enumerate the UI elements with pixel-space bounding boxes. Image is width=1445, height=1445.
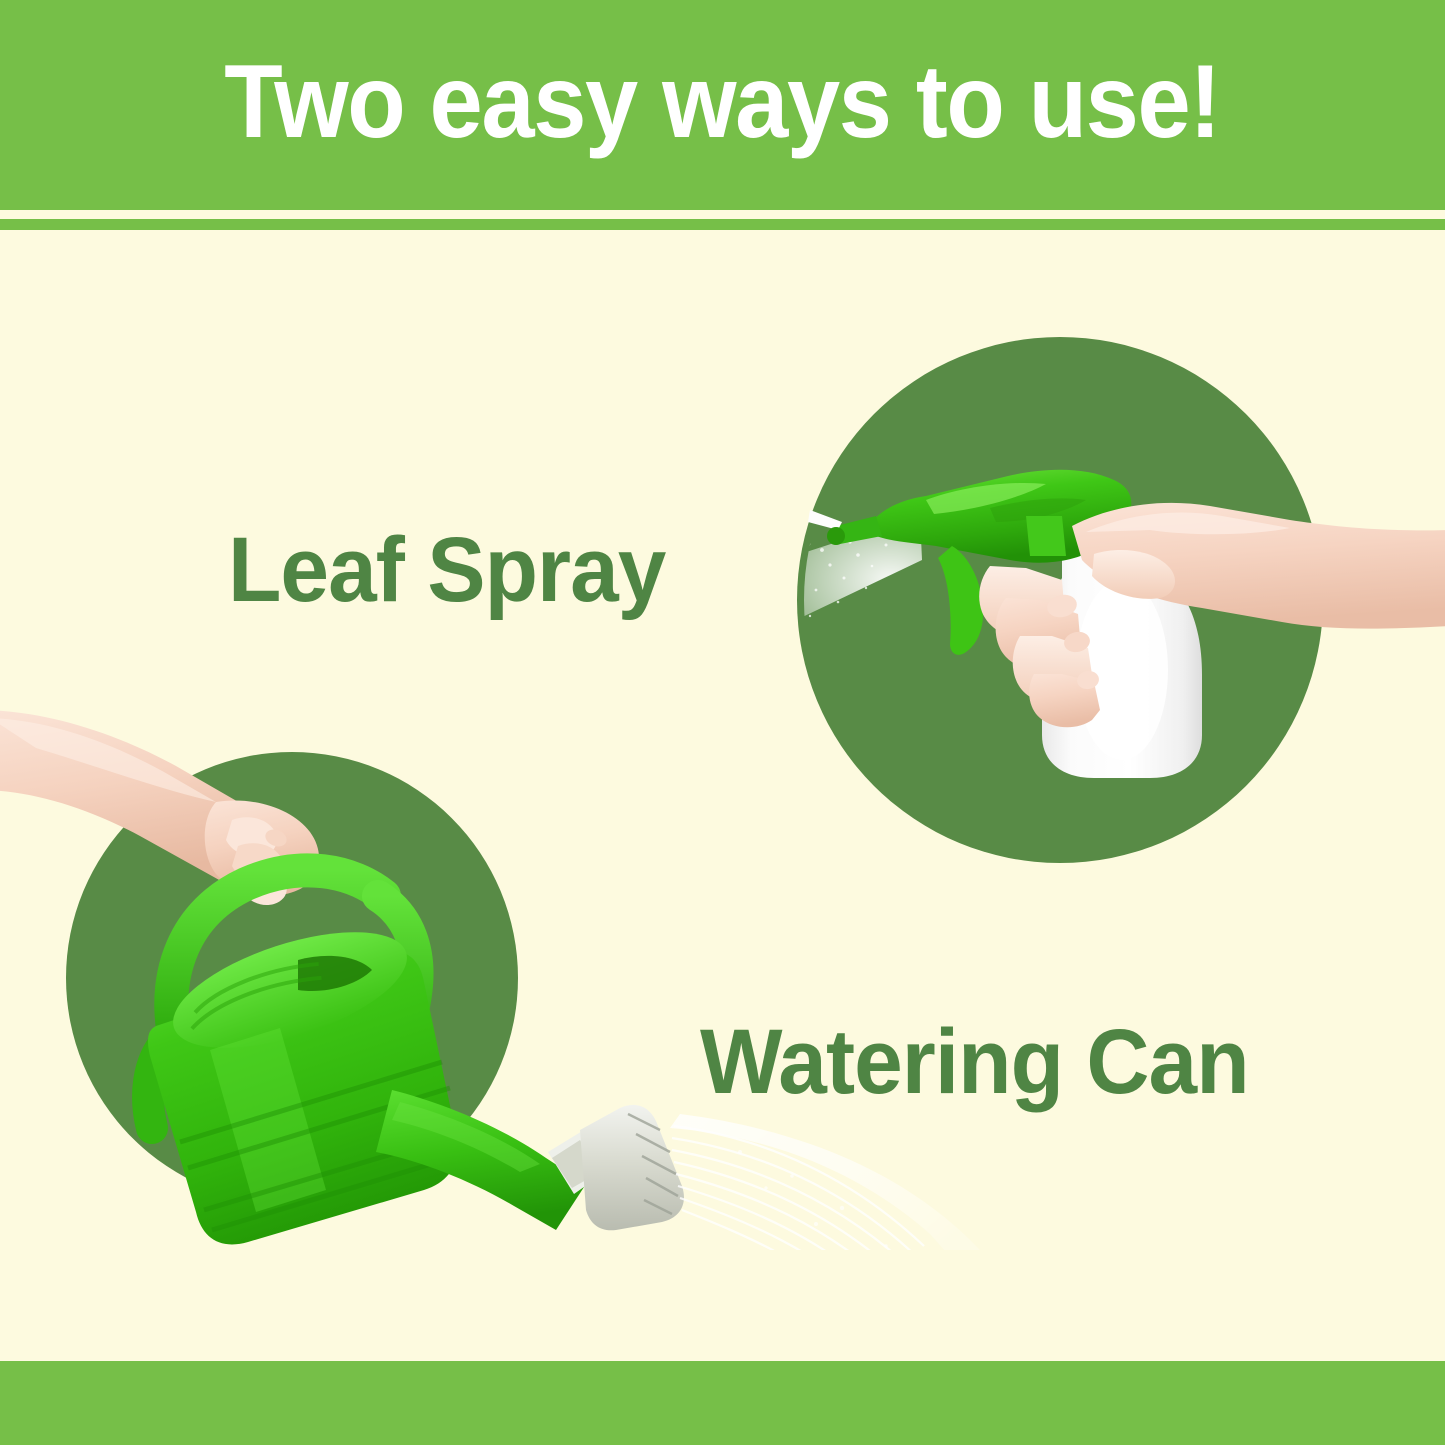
water-stream-icon bbox=[670, 1114, 980, 1250]
feature-label-leaf-spray: Leaf Spray bbox=[228, 524, 665, 616]
promo-graphic: Two easy ways to use! bbox=[0, 0, 1445, 1445]
header-band: Two easy ways to use! bbox=[0, 0, 1445, 210]
header-divider-rule bbox=[0, 219, 1445, 230]
watering-can-circle-backdrop bbox=[66, 752, 518, 1204]
leaf-spray-circle-backdrop bbox=[797, 337, 1323, 863]
footer-band bbox=[0, 1361, 1445, 1445]
watering-can-rose bbox=[580, 1105, 684, 1230]
feature-label-watering-can: Watering Can bbox=[700, 1016, 1249, 1108]
page-title: Two easy ways to use! bbox=[225, 50, 1221, 160]
